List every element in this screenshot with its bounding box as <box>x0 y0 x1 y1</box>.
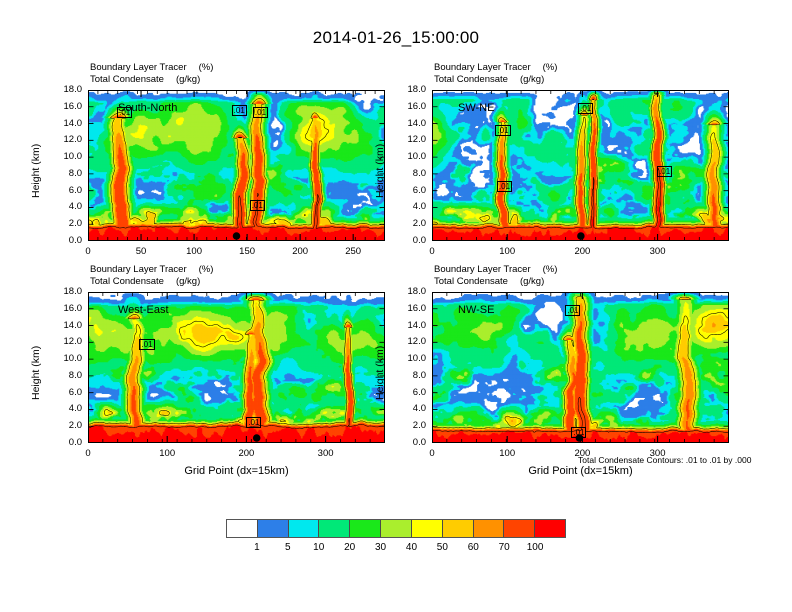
contour-value-label: .01 <box>571 427 586 438</box>
x-tick-label: 100 <box>147 448 187 459</box>
y-tick-label: 12.0 <box>388 336 426 347</box>
x-tick-label: 100 <box>487 448 527 459</box>
colorbar-segment <box>349 520 380 537</box>
panel-header: Boundary Layer Tracer(%)Total Condensate… <box>434 62 557 85</box>
x-tick-label: 150 <box>227 246 267 257</box>
panel-header: Boundary Layer Tracer(%)Total Condensate… <box>90 62 213 85</box>
y-tick-label: 12.0 <box>388 134 426 145</box>
header-field-name: Boundary Layer Tracer <box>90 62 187 73</box>
panel-direction-tag: SW-NE <box>458 102 494 114</box>
y-tick-label: 4.0 <box>388 201 426 212</box>
y-tick-label: 12.0 <box>44 134 82 145</box>
y-tick-label: 18.0 <box>388 84 426 95</box>
x-tick-label: 50 <box>121 246 161 257</box>
contour-value-label: .01 <box>246 417 261 428</box>
y-tick-label: 0.0 <box>44 437 82 448</box>
colorbar-segment <box>380 520 411 537</box>
header-field-unit: (g/kg) <box>520 276 544 287</box>
x-tick-label: 0 <box>412 448 452 459</box>
y-tick-label: 0.0 <box>388 437 426 448</box>
y-tick-label: 18.0 <box>44 84 82 95</box>
header-field-unit: (%) <box>199 264 214 275</box>
header-field-name: Boundary Layer Tracer <box>434 62 531 73</box>
y-tick-label: 14.0 <box>44 118 82 129</box>
colorbar-segment <box>288 520 319 537</box>
y-axis-title: Height (km) <box>374 143 386 197</box>
header-field-unit: (g/kg) <box>176 74 200 85</box>
y-tick-label: 8.0 <box>388 370 426 381</box>
figure-title: 2014-01-26_15:00:00 <box>0 28 792 48</box>
x-tick-label: 300 <box>306 448 346 459</box>
header-field-name: Boundary Layer Tracer <box>434 264 531 275</box>
header-field-name: Total Condensate <box>90 74 164 85</box>
y-tick-label: 16.0 <box>388 303 426 314</box>
y-tick-label: 6.0 <box>388 185 426 196</box>
colorbar: 1510203040506070100 <box>226 519 566 538</box>
contour-value-label: .01 <box>250 200 265 211</box>
colorbar-strip <box>226 519 566 538</box>
y-tick-label: 16.0 <box>44 101 82 112</box>
panel-direction-tag: West-East <box>118 304 169 316</box>
y-tick-label: 8.0 <box>44 168 82 179</box>
header-field-unit: (g/kg) <box>520 74 544 85</box>
x-axis-title: Grid Point (dx=15km) <box>432 465 729 477</box>
y-tick-label: 4.0 <box>44 201 82 212</box>
contour-value-label: .01 <box>495 125 510 136</box>
y-tick-label: 10.0 <box>44 353 82 364</box>
panel-header: Boundary Layer Tracer(%)Total Condensate… <box>434 264 557 287</box>
colorbar-segment <box>473 520 504 537</box>
y-axis-title: Height (km) <box>374 345 386 399</box>
figure-root: 2014-01-26_15:00:00 Boundary Layer Trace… <box>0 0 792 612</box>
y-tick-label: 6.0 <box>388 387 426 398</box>
x-tick-label: 200 <box>562 246 602 257</box>
x-tick-label: 200 <box>226 448 266 459</box>
y-tick-label: 2.0 <box>44 218 82 229</box>
y-tick-label: 18.0 <box>388 286 426 297</box>
y-tick-label: 16.0 <box>44 303 82 314</box>
y-tick-label: 6.0 <box>44 185 82 196</box>
contour-footnote: Total Condensate Contours: .01 to .01 by… <box>578 455 751 465</box>
x-tick-label: 250 <box>333 246 373 257</box>
x-axis-title: Grid Point (dx=15km) <box>88 465 385 477</box>
contour-value-label: .01 <box>253 107 268 118</box>
y-axis-title: Height (km) <box>30 345 42 399</box>
x-tick-label: 100 <box>487 246 527 257</box>
header-field-name: Boundary Layer Tracer <box>90 264 187 275</box>
x-tick-label: 100 <box>174 246 214 257</box>
y-tick-label: 0.0 <box>388 235 426 246</box>
colorbar-segment <box>318 520 349 537</box>
contour-value-label: .01 <box>578 103 593 114</box>
y-tick-label: 8.0 <box>44 370 82 381</box>
colorbar-segment <box>227 520 257 537</box>
y-tick-label: 16.0 <box>388 101 426 112</box>
y-tick-label: 2.0 <box>44 420 82 431</box>
panel-header: Boundary Layer Tracer(%)Total Condensate… <box>90 264 213 287</box>
colorbar-segment <box>503 520 534 537</box>
contour-value-label: .01 <box>497 181 512 192</box>
panel-direction-tag: South-North <box>118 102 177 114</box>
colorbar-segment <box>257 520 288 537</box>
colorbar-tick-label: 100 <box>515 542 555 553</box>
contour-value-label: .01 <box>139 339 154 350</box>
panel-direction-tag: NW-SE <box>458 304 494 316</box>
header-field-unit: (%) <box>543 264 558 275</box>
y-tick-label: 6.0 <box>44 387 82 398</box>
header-field-name: Total Condensate <box>434 276 508 287</box>
y-tick-label: 4.0 <box>44 403 82 414</box>
header-field-unit: (g/kg) <box>176 276 200 287</box>
y-tick-label: 10.0 <box>388 353 426 364</box>
y-tick-label: 10.0 <box>388 151 426 162</box>
y-tick-label: 10.0 <box>44 151 82 162</box>
contour-value-label: .01 <box>232 105 247 116</box>
x-tick-label: 200 <box>280 246 320 257</box>
y-tick-label: 18.0 <box>44 286 82 297</box>
y-tick-label: 2.0 <box>388 420 426 431</box>
y-axis-title: Height (km) <box>30 143 42 197</box>
x-tick-label: 0 <box>412 246 452 257</box>
y-tick-label: 4.0 <box>388 403 426 414</box>
y-tick-label: 14.0 <box>388 320 426 331</box>
contour-value-label: .01 <box>657 166 672 177</box>
y-tick-label: 0.0 <box>44 235 82 246</box>
y-tick-label: 14.0 <box>44 320 82 331</box>
x-tick-label: 0 <box>68 448 108 459</box>
x-tick-label: 0 <box>68 246 108 257</box>
header-field-unit: (%) <box>199 62 214 73</box>
colorbar-segment <box>534 520 565 537</box>
y-tick-label: 12.0 <box>44 336 82 347</box>
colorbar-segment <box>411 520 442 537</box>
header-field-name: Total Condensate <box>434 74 508 85</box>
colorbar-segment <box>442 520 473 537</box>
header-field-unit: (%) <box>543 62 558 73</box>
y-tick-label: 2.0 <box>388 218 426 229</box>
x-tick-label: 300 <box>638 246 678 257</box>
y-tick-label: 14.0 <box>388 118 426 129</box>
contour-value-label: .01 <box>565 305 580 316</box>
y-tick-label: 8.0 <box>388 168 426 179</box>
header-field-name: Total Condensate <box>90 276 164 287</box>
